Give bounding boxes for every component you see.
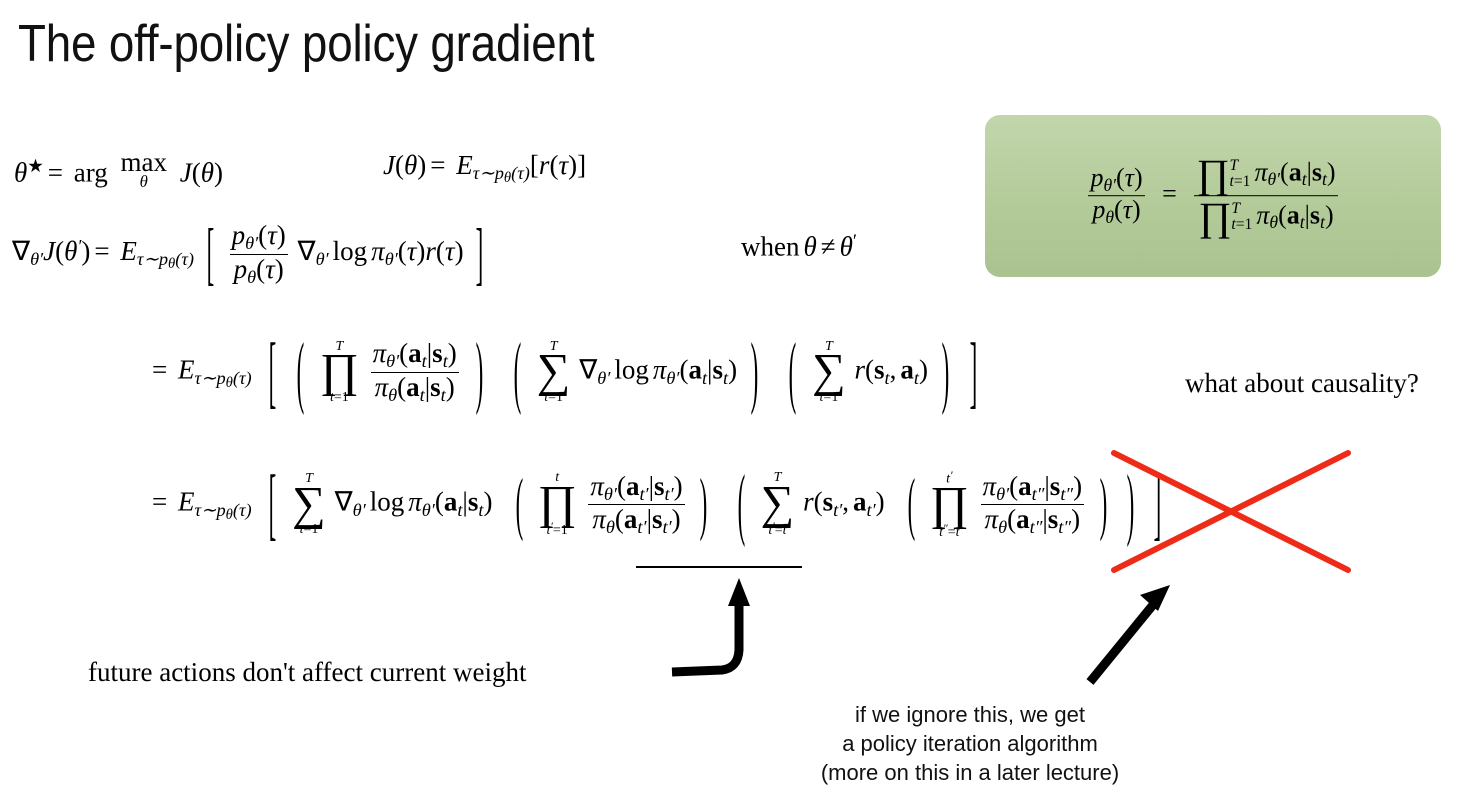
callout-box-importance-ratio: pθ′(τ) pθ(τ) = ∏Tt=1πθ′(at|st) ∏Tt=1πθ(a…	[985, 115, 1441, 277]
product-operator-weights: t∏t′=1	[536, 471, 579, 537]
page-title: The off-policy policy gradient	[18, 14, 594, 74]
callout-formula: pθ′(τ) pθ(τ) = ∏Tt=1πθ′(at|st) ∏Tt=1πθ(a…	[985, 154, 1441, 238]
callout-rhs-fraction: ∏Tt=1πθ′(at|st) ∏Tt=1πθ(at|st)	[1191, 154, 1340, 238]
sum-operator-outer: T∑t=1	[290, 472, 328, 536]
equation-expanded-product-sums: = Eτ∼pθ(τ) [ ( T∏t=1 πθ′(at|st) πθ(at|st…	[152, 340, 984, 404]
elbow-arrow-future-actions	[672, 578, 750, 672]
equation-objective-expectation: J(θ)= Eτ∼pθ(τ)[r(τ)]	[383, 152, 586, 186]
annotation-policy-iteration-line1: if we ignore this, we get	[760, 700, 1180, 729]
annotation-policy-iteration-line2: a policy iteration algorithm	[760, 729, 1180, 758]
annotation-policy-iteration: if we ignore this, we get a policy itera…	[760, 700, 1180, 787]
callout-lhs-fraction: pθ′(τ) pθ(τ)	[1085, 165, 1147, 227]
sum-operator-gradient: T∑t=1	[535, 340, 573, 404]
condition-theta-not-equal: whenθ≠θ′	[741, 231, 857, 263]
product-operator: T∏t=1	[318, 340, 361, 404]
sum-operator-reward: T∑t=1	[810, 340, 848, 404]
crossed-out-importance-ratio: πθ′(at″|st″) πθ(at″|st″)	[978, 473, 1088, 537]
annotation-causality: what about causality?	[1185, 368, 1419, 399]
annotation-policy-iteration-line3: (more on this in a later lecture)	[760, 758, 1180, 787]
equation-offpolicy-gradient: ∇θ′J(θ′)= Eτ∼pθ(τ) [ pθ′(τ) pθ(τ) ∇θ′log…	[12, 222, 489, 286]
crossed-term-open-paren: (	[904, 469, 920, 539]
sum-operator-future-reward: T∑t′=t	[759, 471, 797, 537]
underline-importance-weight	[636, 566, 802, 568]
product-operator-crossed: t′∏t″=t	[928, 470, 971, 539]
diagonal-arrow-policy-iteration	[1090, 585, 1170, 682]
annotation-future-actions: future actions don't affect current weig…	[88, 657, 526, 688]
equation-objective-argmax: θ★= arg maxθ J(θ)	[14, 152, 223, 189]
equation-causal-offpolicy: = Eτ∼pθ(τ) [ T∑t=1 ∇θ′logπθ′(at|st) ( t∏…	[152, 470, 1168, 539]
